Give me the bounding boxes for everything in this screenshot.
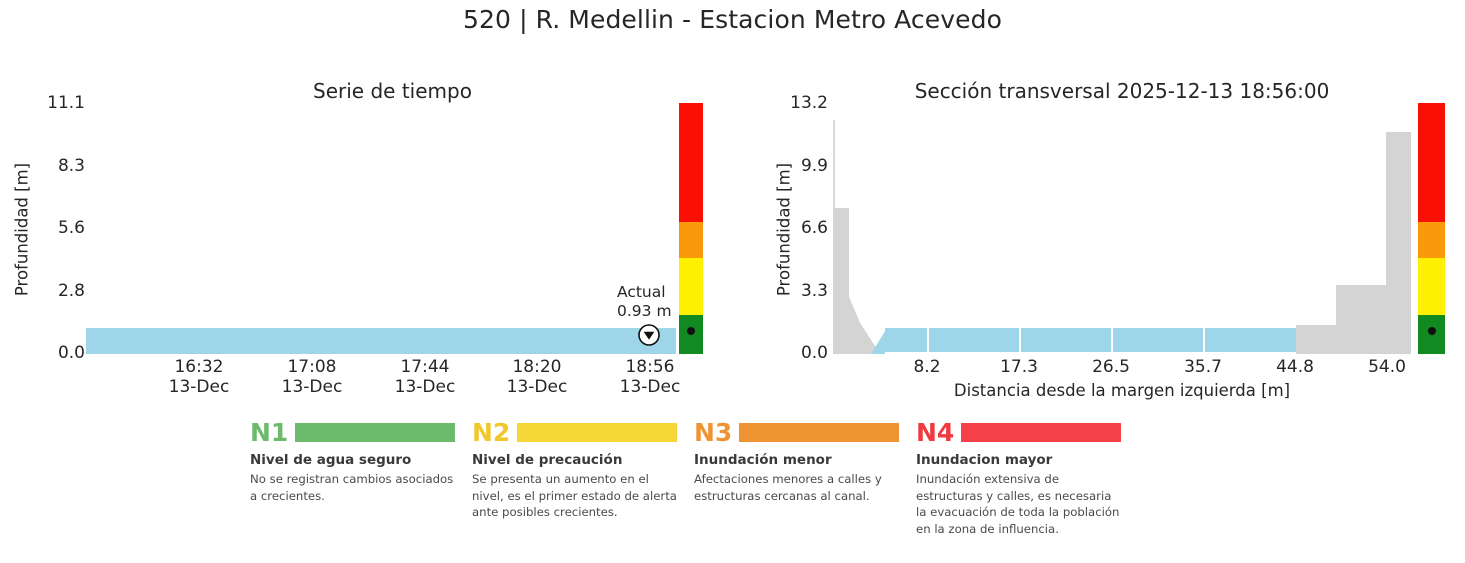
ytick-2: 5.6: [5, 218, 85, 238]
legend-swatch-n1: [295, 423, 455, 442]
bed-line: [885, 352, 1296, 354]
legend-item-n1: N1 Nivel de agua seguro No se registran …: [250, 418, 455, 504]
legend-swatch-n3: [739, 423, 899, 442]
gridline-2: [1111, 328, 1113, 354]
cross-section-water: [885, 328, 1296, 354]
legend-head-n1: N1: [250, 418, 455, 446]
legend-head-n3: N3: [694, 418, 899, 446]
legend-item-n4: N4 Inundacion mayor Inundación extensiva…: [916, 418, 1121, 538]
xtick-cs-1-label: 17.3: [1000, 358, 1038, 378]
colorbar-right-segment-n4: [1418, 103, 1445, 222]
figure-root: 520 | R. Medellin - Estacion Metro Aceve…: [0, 0, 1465, 563]
seccion-transversal-title: Sección transversal 2025-12-13 18:56:00: [833, 79, 1411, 103]
nivel-colorbar-left: [679, 103, 703, 354]
xtick-2: 17:44 13-Dec: [395, 358, 456, 397]
legend-code-n3: N3: [694, 420, 732, 445]
xtick-cs-2: 26.5: [1092, 358, 1130, 378]
terrain-right-bank-step2: [1336, 285, 1386, 354]
xtick-cs-5-label: 54.0: [1368, 358, 1406, 378]
circled-down-triangle-icon: [637, 323, 661, 347]
legend-head-n4: N4: [916, 418, 1121, 446]
xtick-1-time: 17:08: [282, 358, 343, 378]
actual-annotation-label: Actual: [617, 283, 672, 302]
xtick-cs-4: 44.8: [1276, 358, 1314, 378]
xtick-1-date: 13-Dec: [282, 378, 343, 398]
colorbar-current-dot: [687, 327, 695, 335]
legend-desc-n4: Inundación extensiva de estructuras y ca…: [916, 471, 1121, 537]
seccion-transversal-xlabel: Distancia desde la margen izquierda [m]: [833, 381, 1411, 400]
ytick-0: 0.0: [5, 343, 85, 363]
legend-title-n2: Nivel de precaución: [472, 452, 677, 468]
xtick-cs-4-label: 44.8: [1276, 358, 1314, 378]
xtick-0: 16:32 13-Dec: [169, 358, 230, 397]
legend-swatch-n2: [517, 423, 677, 442]
legend-code-n2: N2: [472, 420, 510, 445]
colorbar-right-current-dot: [1428, 327, 1436, 335]
colorbar-segment-n3: [679, 222, 703, 258]
xtick-3: 18:20 13-Dec: [507, 358, 568, 397]
water-surface-line: [885, 327, 1296, 329]
ytick-cs-4: 13.2: [760, 93, 828, 113]
legend-desc-n2: Se presenta un aumento en el nivel, es e…: [472, 471, 677, 521]
legend-swatch-n4: [961, 423, 1121, 442]
xtick-cs-3-label: 35.7: [1184, 358, 1222, 378]
xtick-4-date: 13-Dec: [620, 378, 681, 398]
legend-code-n1: N1: [250, 420, 288, 445]
xtick-2-time: 17:44: [395, 358, 456, 378]
xtick-1: 17:08 13-Dec: [282, 358, 343, 397]
legend-item-n2: N2 Nivel de precaución Se presenta un au…: [472, 418, 677, 521]
legend-title-n3: Inundación menor: [694, 452, 899, 468]
actual-annotation: Actual 0.93 m: [617, 283, 672, 322]
current-level-marker: [637, 323, 661, 347]
colorbar-segment-n4: [679, 103, 703, 222]
serie-de-tiempo-title: Serie de tiempo: [140, 79, 645, 103]
xtick-cs-0: 8.2: [913, 358, 940, 378]
colorbar-right-segment-n2: [1418, 258, 1445, 315]
actual-annotation-value: 0.93 m: [617, 302, 672, 321]
ytick-cs-0: 0.0: [760, 343, 828, 363]
xtick-4: 18:56 13-Dec: [620, 358, 681, 397]
legend-desc-n1: No se registran cambios asociados a crec…: [250, 471, 455, 504]
nivel-colorbar-right: [1418, 103, 1445, 354]
colorbar-right-segment-n3: [1418, 222, 1445, 258]
serie-de-tiempo-plot: [86, 103, 676, 354]
terrain-right-bank-step3: [1386, 132, 1411, 354]
xtick-cs-0-label: 8.2: [913, 358, 940, 378]
nivel-legend: N1 Nivel de agua seguro No se registran …: [250, 418, 1150, 558]
legend-title-n1: Nivel de agua seguro: [250, 452, 455, 468]
xtick-cs-5: 54.0: [1368, 358, 1406, 378]
xtick-0-date: 13-Dec: [169, 378, 230, 398]
gridline-0: [927, 328, 929, 354]
ytick-cs-1: 3.3: [760, 281, 828, 301]
ytick-4: 11.1: [5, 93, 85, 113]
ytick-1: 2.8: [5, 281, 85, 301]
legend-code-n4: N4: [916, 420, 954, 445]
xtick-0-time: 16:32: [169, 358, 230, 378]
xtick-3-date: 13-Dec: [507, 378, 568, 398]
ytick-cs-2: 6.6: [760, 218, 828, 238]
legend-item-n3: N3 Inundación menor Afectaciones menores…: [694, 418, 899, 504]
colorbar-segment-n2: [679, 258, 703, 315]
terrain-left-bank-top: [833, 208, 849, 354]
xtick-cs-2-label: 26.5: [1092, 358, 1130, 378]
terrain-right-bank-step1: [1296, 325, 1336, 354]
xtick-4-time: 18:56: [620, 358, 681, 378]
xtick-3-time: 18:20: [507, 358, 568, 378]
gridline-3: [1203, 328, 1205, 354]
xtick-2-date: 13-Dec: [395, 378, 456, 398]
legend-desc-n3: Afectaciones menores a calles y estructu…: [694, 471, 899, 504]
legend-head-n2: N2: [472, 418, 677, 446]
ytick-3: 8.3: [5, 156, 85, 176]
xtick-cs-1: 17.3: [1000, 358, 1038, 378]
page-title: 520 | R. Medellin - Estacion Metro Aceve…: [0, 5, 1465, 34]
legend-title-n4: Inundacion mayor: [916, 452, 1121, 468]
seccion-transversal-plot: [833, 103, 1411, 354]
xtick-cs-3: 35.7: [1184, 358, 1222, 378]
ytick-cs-3: 9.9: [760, 156, 828, 176]
water-level-area: [86, 328, 676, 354]
gridline-1: [1019, 328, 1021, 354]
